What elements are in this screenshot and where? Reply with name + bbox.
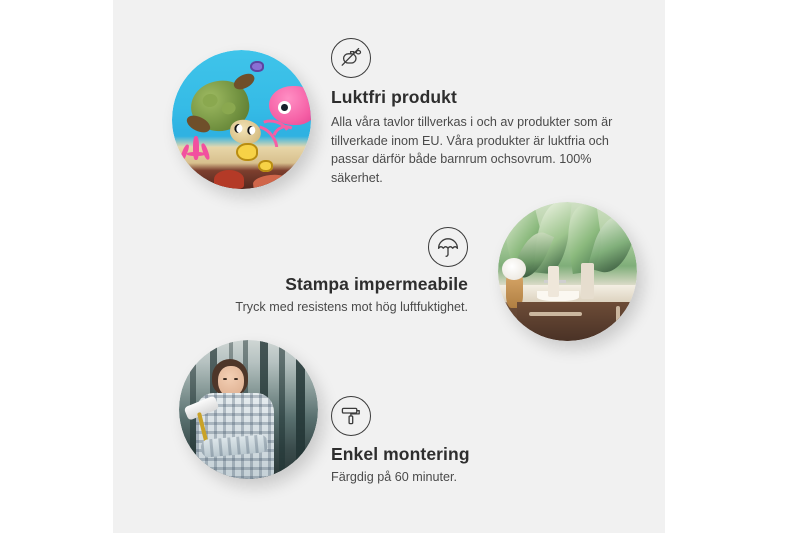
woman-roller-photo	[179, 340, 318, 479]
yellow-fish-small	[258, 160, 273, 173]
product-image-woman-roller[interactable]	[179, 340, 318, 479]
feature-waterproof: Stampa impermeabile Tryck med resistens …	[213, 227, 468, 317]
feature-title: Enkel montering	[331, 444, 601, 465]
product-image-bathroom[interactable]	[498, 202, 637, 341]
product-image-sea-life[interactable]	[172, 50, 311, 189]
octopus-eye	[278, 101, 291, 114]
yellow-fish	[236, 143, 258, 161]
bottle	[548, 266, 559, 297]
sea-rock	[214, 170, 245, 189]
sea-rock	[252, 173, 289, 189]
feature-title: Stampa impermeabile	[213, 274, 468, 295]
coral	[178, 136, 220, 169]
feature-body: Tryck med resistens mot hög luftfuktighe…	[213, 298, 468, 317]
feature-body: Färgdig på 60 minuter.	[331, 468, 601, 487]
tree	[279, 340, 285, 479]
purple-fish	[250, 61, 264, 72]
sea-life-photo	[172, 50, 311, 189]
tree	[296, 340, 306, 479]
feature-easy-install: Enkel montering Färgdig på 60 minuter.	[331, 396, 601, 487]
umbrella-icon	[428, 227, 468, 267]
feature-body: Alla våra tavlor tillverkas i och av pro…	[331, 113, 641, 188]
turtle-flipper-back	[232, 71, 258, 92]
content-panel: Luktfri produkt Alla våra tavlor tillver…	[113, 0, 665, 533]
flower	[502, 258, 526, 280]
bathroom-photo	[498, 202, 637, 341]
bottle	[581, 263, 594, 299]
paint-roller-icon	[331, 396, 371, 436]
vanity-cabinet	[517, 302, 637, 341]
feature-odorless: Luktfri produkt Alla våra tavlor tillver…	[331, 38, 641, 188]
infographic-page: Luktfri produkt Alla våra tavlor tillver…	[0, 0, 800, 533]
no-fragrance-icon	[331, 38, 371, 78]
feature-title: Luktfri produkt	[331, 87, 641, 108]
